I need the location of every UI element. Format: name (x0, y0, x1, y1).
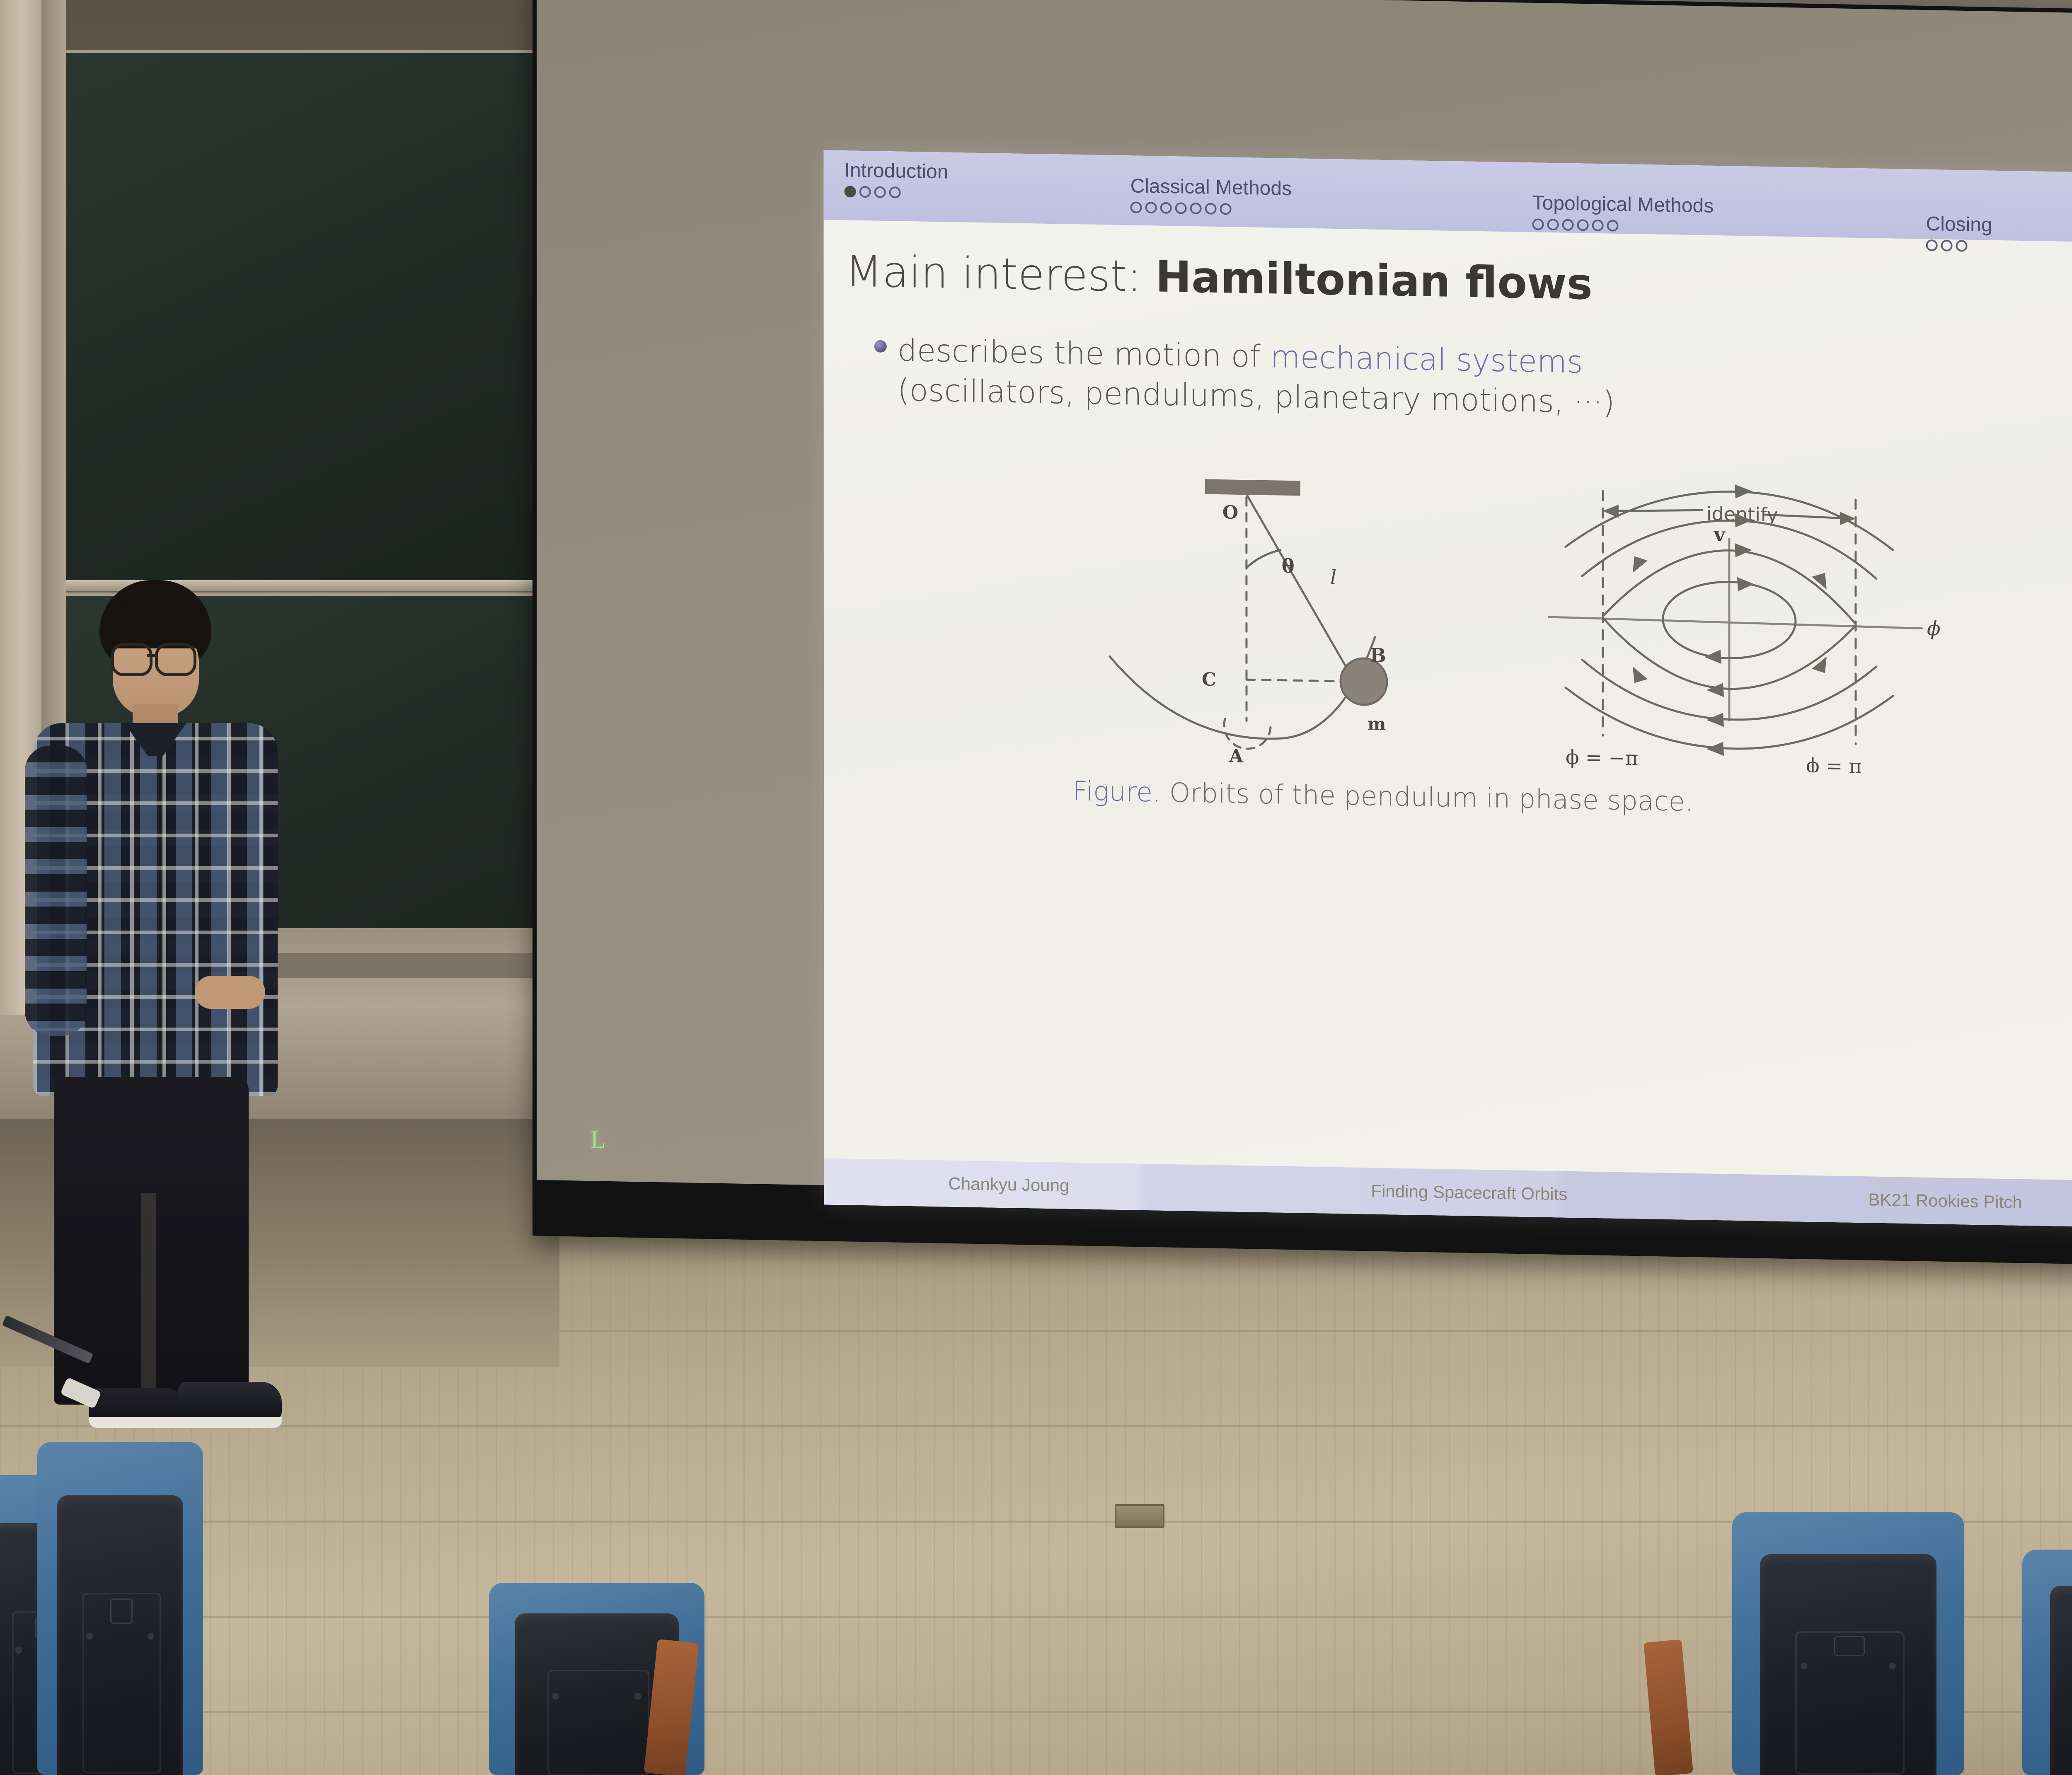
flow-arrow (1706, 742, 1724, 756)
nav-section-label: Classical Methods (1130, 176, 1292, 199)
nav-dot[interactable] (1941, 240, 1953, 251)
pendulum-ceiling-bar (1205, 479, 1300, 496)
phase-axis-label-v: v (1714, 523, 1726, 546)
seat-notch (86, 1633, 93, 1640)
nav-dot[interactable] (1956, 240, 1968, 251)
bullet-highlight: mechanical systems (1270, 339, 1583, 380)
nav-section-label: Introduction (845, 160, 949, 182)
nav-dot[interactable] (1592, 220, 1604, 231)
bullet-line1-prefix: describes the motion of (898, 333, 1271, 375)
nav-dot[interactable] (874, 186, 886, 198)
footer-author: Chankyu Joung (948, 1174, 1069, 1196)
seat-notch (552, 1693, 559, 1700)
presenter-left-arm (25, 746, 87, 1036)
flow-arrow (1706, 713, 1724, 727)
seat-notch (15, 1647, 22, 1654)
presenter (0, 580, 340, 1409)
nav-section-classical-methods[interactable]: Classical Methods (1130, 176, 1292, 218)
identify-arrow-left (1607, 508, 1702, 513)
nav-dot[interactable] (859, 186, 871, 198)
flow-arrow (1706, 683, 1724, 697)
floor-outlet-plate (1115, 1504, 1164, 1528)
lecture-room-photo: L Introduction Classical Methods (0, 0, 2072, 1775)
slide-heading-strong: Hamiltonian flows (1155, 251, 1593, 309)
auditorium-seat (2022, 1550, 2072, 1775)
seat-back-tab (1834, 1636, 1865, 1657)
flow-arrow (1735, 484, 1752, 499)
phase-label-right-boundary: ϕ = π (1806, 754, 1862, 778)
phase-label-left-boundary: ϕ = −π (1566, 746, 1638, 770)
seat-back-tab (110, 1598, 133, 1624)
figure-caption-text: Orbits of the pendulum in phase space. (1161, 778, 1694, 817)
pendulum-horizontal-dashed (1247, 680, 1350, 681)
seat-notch (148, 1633, 154, 1640)
pendulum-label-theta: θ (1282, 555, 1295, 578)
pendulum-label-center: C (1202, 669, 1216, 690)
auditorium-seat (1732, 1512, 1964, 1775)
nav-section-topological-methods[interactable]: Topological Methods (1532, 193, 1714, 235)
nav-dot-active[interactable] (845, 186, 856, 198)
presenter-shoe-right (178, 1382, 282, 1421)
seat-back-shell (1760, 1554, 1936, 1775)
pendulum-angle-arc (1247, 549, 1280, 568)
presenter-glasses-right-lens (155, 643, 196, 676)
flow-arrow (1737, 577, 1754, 592)
figure-svg: O θ l C (861, 466, 2072, 779)
pendulum-label-bob: B (1370, 644, 1386, 667)
nav-section-closing[interactable]: Closing (1926, 214, 1992, 254)
nav-dot[interactable] (1130, 202, 1142, 213)
nav-dot[interactable] (1532, 219, 1544, 230)
nav-dot[interactable] (1205, 203, 1217, 215)
nav-dot[interactable] (1175, 203, 1187, 214)
nav-section-label: Topological Methods (1532, 193, 1714, 217)
nav-dot[interactable] (1160, 202, 1172, 214)
nav-progress-dots (1532, 215, 1714, 235)
presenter-glasses-bridge (147, 654, 157, 657)
nav-progress-dots (1926, 236, 1992, 254)
bullet-marker-icon (874, 340, 887, 353)
seat-back-shell (2050, 1586, 2072, 1775)
figure-caption-label: Figure. (1072, 776, 1161, 808)
nav-section-introduction[interactable]: Introduction (845, 160, 949, 201)
slide-heading: Main interest: Hamiltonian flows (845, 246, 1593, 309)
seat-back-panel (547, 1670, 649, 1775)
flow-arrow (1633, 556, 1648, 573)
presenter-hand (195, 976, 265, 1009)
flow-arrow (1704, 650, 1721, 664)
pendulum-label-mass: m (1368, 713, 1386, 734)
nav-dot[interactable] (1562, 219, 1574, 231)
flow-arrow (1633, 666, 1648, 683)
nav-dot[interactable] (1190, 203, 1202, 214)
projector-brand-logo-icon: L (591, 1129, 609, 1152)
nav-dot[interactable] (1577, 220, 1589, 231)
seat-back-shell (57, 1495, 183, 1775)
nav-progress-dots (845, 182, 949, 201)
footer-presentation-title: Finding Spacecraft Orbits (1371, 1181, 1567, 1204)
slide-canvas: Introduction Classical Methods Topologic… (824, 150, 2072, 1229)
nav-section-label: Closing (1926, 214, 1992, 236)
presentation-slide: Introduction Classical Methods Topologic… (824, 150, 2072, 1229)
auditorium-seat (37, 1442, 203, 1775)
slide-heading-prefix: Main interest: (845, 246, 1155, 302)
nav-dot[interactable] (1607, 220, 1619, 232)
seat-notch (1889, 1663, 1896, 1669)
presenter-leg-gap (141, 1193, 156, 1392)
figure-graphics: O θ l C (861, 466, 2072, 779)
phase-axis-label-phi: ϕ (1927, 617, 1941, 641)
pendulum-label-rest: A (1229, 745, 1244, 767)
nav-dot[interactable] (889, 187, 901, 198)
presenter-shoe-sole (89, 1417, 282, 1428)
pendulum-label-pivot: O (1222, 502, 1238, 523)
nav-dot[interactable] (1926, 239, 1938, 251)
nav-dot[interactable] (1220, 203, 1232, 215)
nav-dot[interactable] (1145, 202, 1157, 213)
chalkboard-upper (58, 50, 539, 584)
pendulum-label-length: l (1330, 566, 1336, 589)
nav-progress-dots (1130, 198, 1292, 218)
presenter-hair-fringe (102, 603, 210, 648)
bullet-body: describes the motion of mechanical syste… (898, 331, 1615, 423)
footer-event: BK21 Rookies Pitch (1868, 1190, 2022, 1212)
flow-arrow (1735, 543, 1752, 558)
bullet-list-item: describes the motion of mechanical syste… (874, 330, 2072, 431)
figure-caption: Figure. Orbits of the pendulum in phase … (1072, 776, 1984, 822)
nav-dot[interactable] (1547, 219, 1559, 230)
seat-notch (634, 1693, 641, 1700)
presenter-glasses-left-lens (111, 643, 152, 676)
